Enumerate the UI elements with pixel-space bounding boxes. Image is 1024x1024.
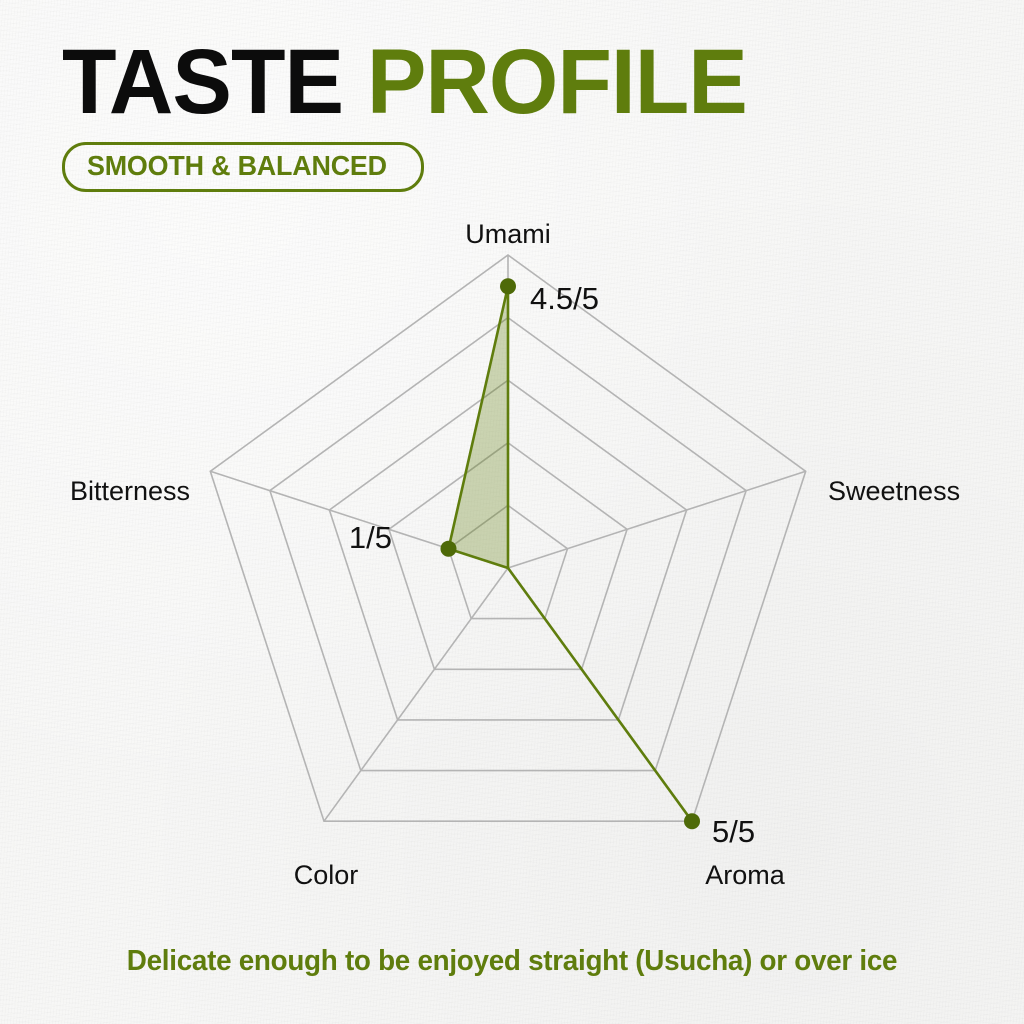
radar-axis-label-bitterness: Bitterness (70, 476, 190, 506)
radar-value-label-bitterness: 1/5 (349, 520, 392, 555)
poster-canvas: TASTE PROFILE SMOOTH & BALANCED (0, 0, 1024, 1024)
radar-axis-labels: Umami Sweetness Aroma Color Bitterness (70, 219, 960, 890)
radar-value-label-umami: 4.5/5 (530, 281, 599, 316)
radar-spoke-color (324, 568, 508, 821)
radar-series-polygon (449, 286, 693, 821)
radar-spoke-sweetness (508, 471, 806, 568)
radar-point-aroma (684, 813, 700, 829)
footer-note: Delicate enough to be enjoyed straight (… (20, 944, 1003, 978)
radar-value-labels: 4.5/5 5/5 1/5 (349, 281, 755, 849)
radar-axis-label-umami: Umami (465, 219, 551, 249)
radar-point-umami (500, 278, 516, 294)
radar-axis-label-aroma: Aroma (705, 860, 786, 890)
radar-axis-label-color: Color (294, 860, 359, 890)
radar-value-label-aroma: 5/5 (712, 814, 755, 849)
radar-point-bitterness (441, 541, 457, 557)
radar-axis-label-sweetness: Sweetness (828, 476, 960, 506)
radar-chart: Umami Sweetness Aroma Color Bitterness 4… (0, 0, 1024, 1024)
